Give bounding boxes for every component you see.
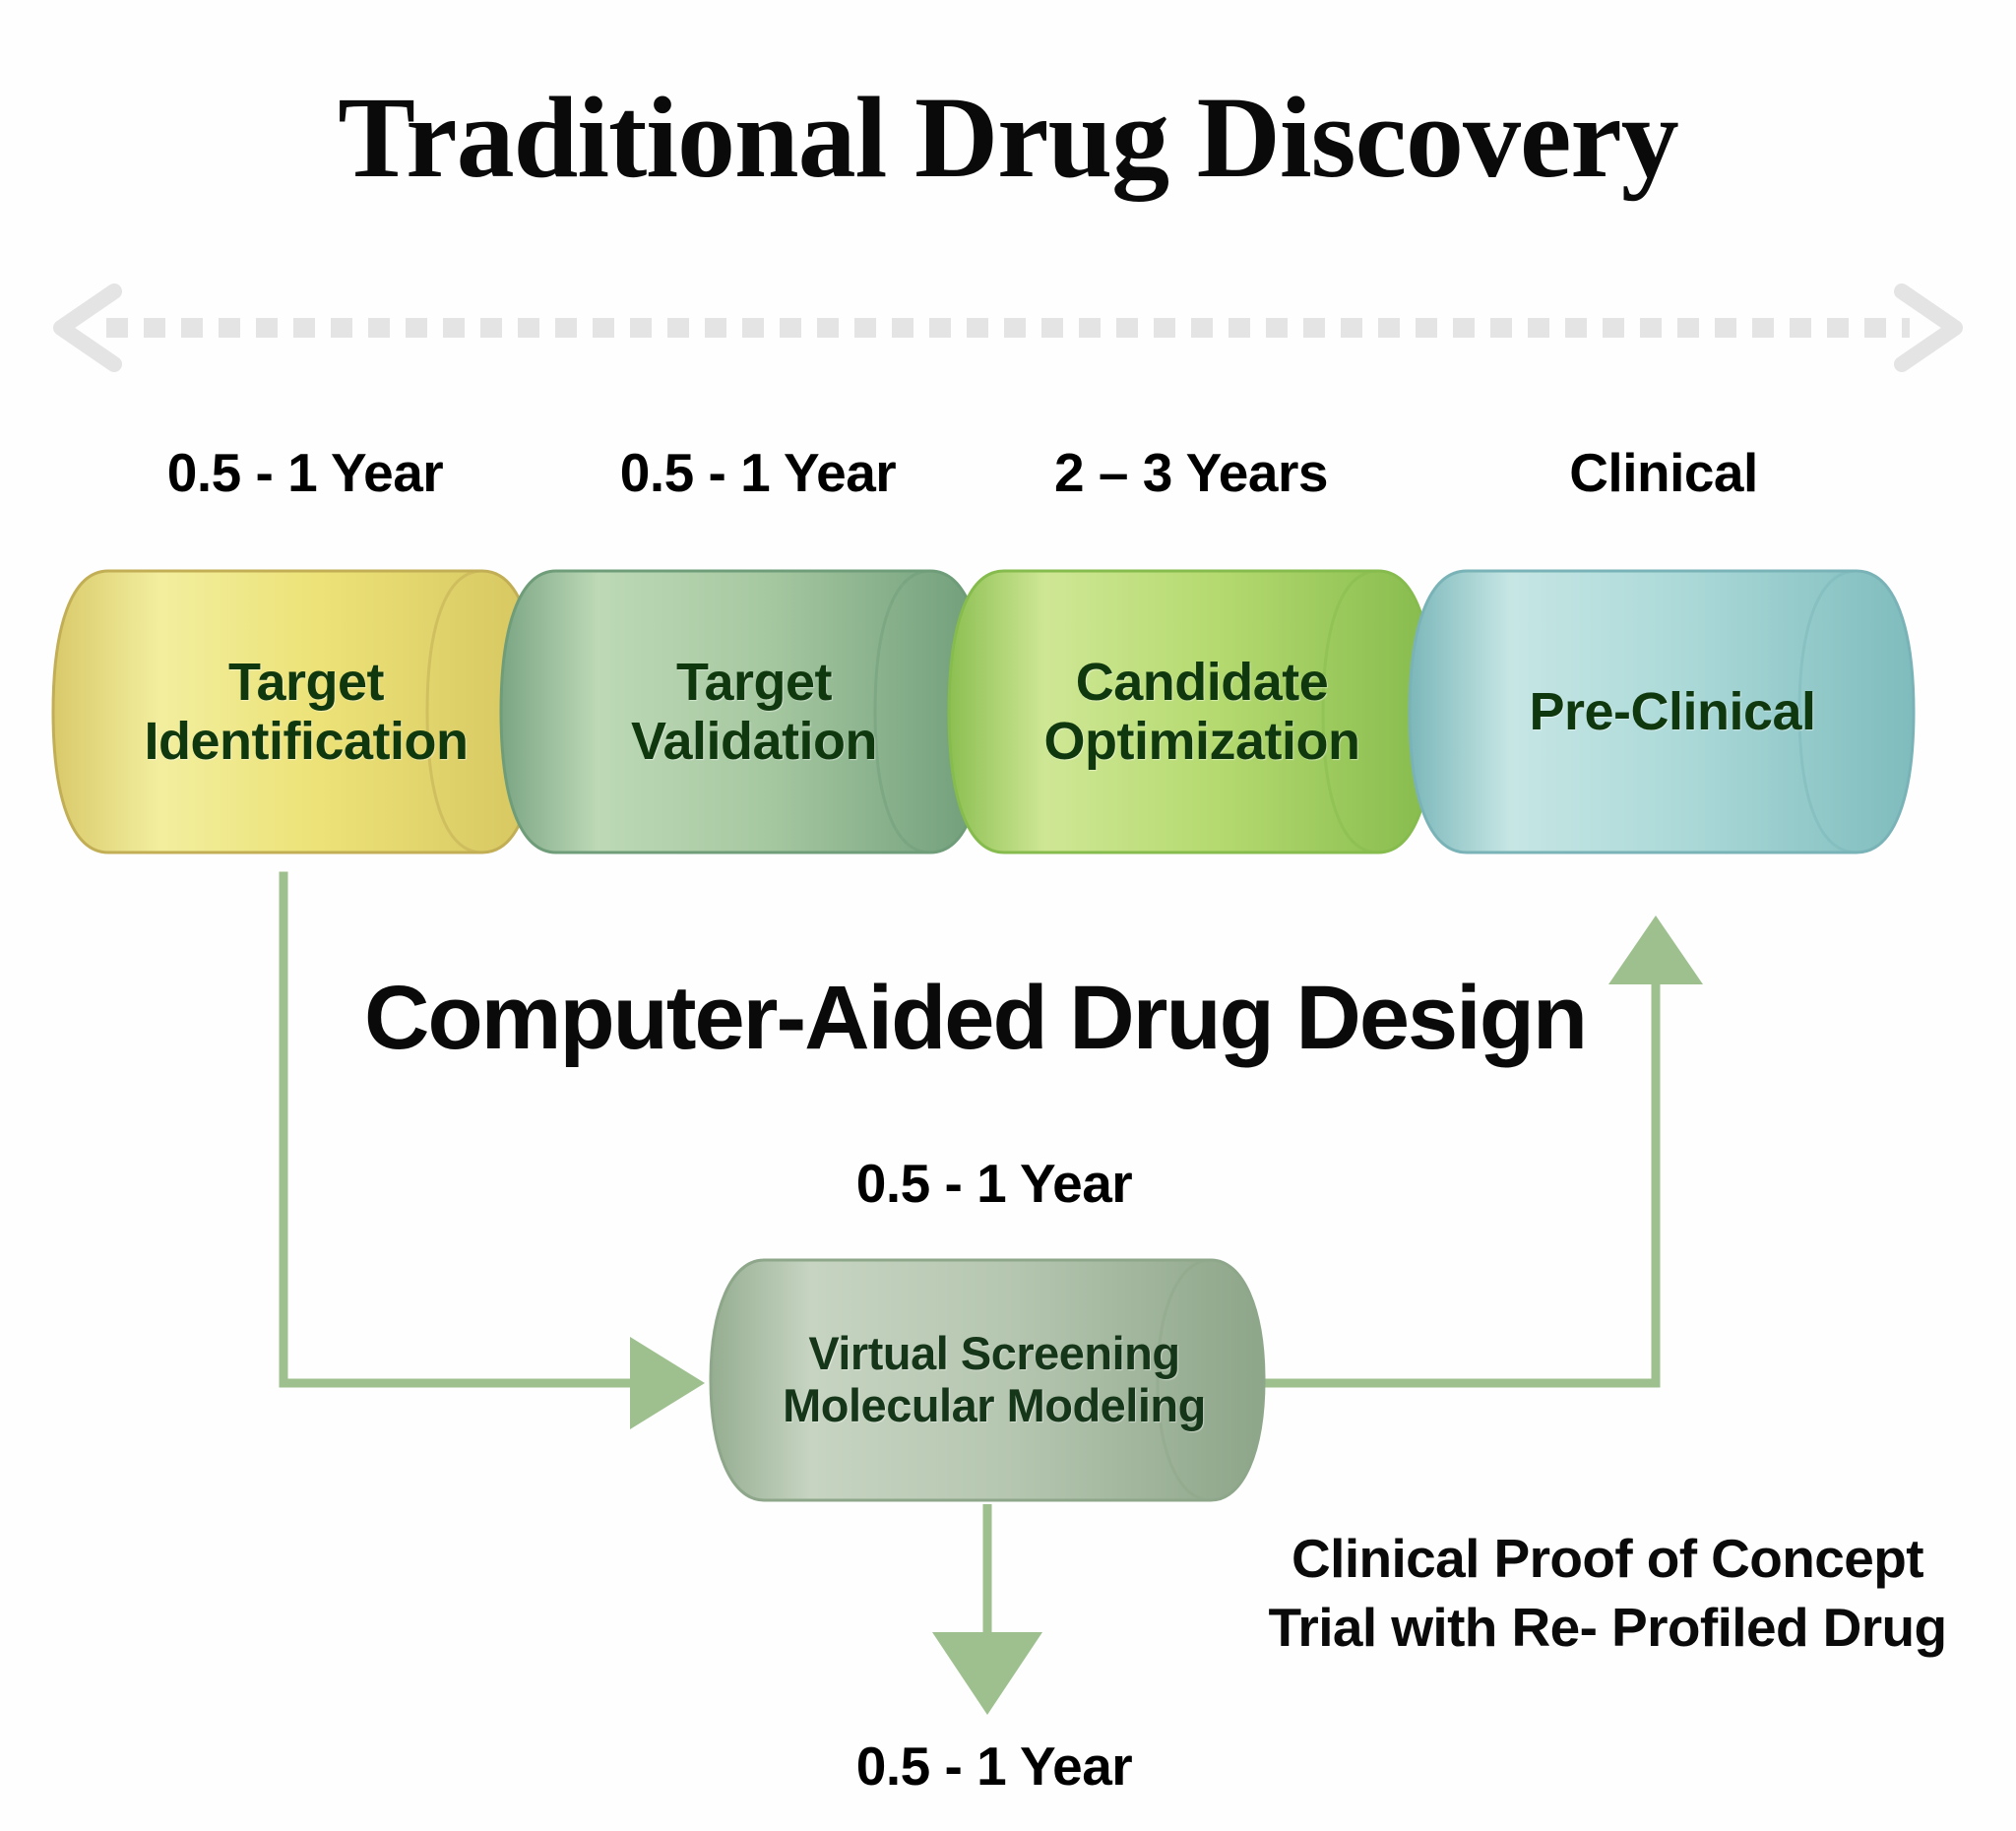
phase-cylinder-candidate-optimization[interactable]: Candidate Optimization <box>945 569 1437 854</box>
diagram-canvas: Traditional Drug Discovery 0.5 - 1 Year … <box>0 0 2016 1831</box>
phase-cylinder-target-identification[interactable]: Target Identification <box>49 569 541 854</box>
virtual-screening-line-1: Virtual Screening <box>783 1328 1206 1380</box>
clinical-proof-of-concept-note: Clinical Proof of Concept Trial with Re-… <box>1209 1524 2006 1663</box>
virtual-screening-label: Virtual Screening Molecular Modeling <box>769 1328 1206 1431</box>
virtual-screening-line-2: Molecular Modeling <box>783 1380 1206 1432</box>
phase-cylinder-label: Target Validation <box>609 653 877 772</box>
phase-label-line-1: Pre-Clinical <box>1529 682 1815 741</box>
phase-label-line-2: Optimization <box>1044 712 1360 771</box>
cpoc-note-line-2: Trial with Re- Profiled Drug <box>1209 1593 2006 1662</box>
phase-cylinder-label: Candidate Optimization <box>1023 653 1360 772</box>
connector-target-identification-to-virtual-screening <box>283 876 705 1429</box>
duration-label-target-identification: 0.5 - 1 Year <box>59 441 551 504</box>
duration-label-virtual-screening-bottom: 0.5 - 1 Year <box>758 1735 1230 1798</box>
duration-label-pre-clinical: Clinical <box>1417 441 1910 504</box>
phase-duration-row: 0.5 - 1 Year 0.5 - 1 Year 2 – 3 Years Cl… <box>0 441 2016 510</box>
phase-label-line-1: Target <box>631 653 877 712</box>
duration-label-virtual-screening-top: 0.5 - 1 Year <box>758 1152 1230 1215</box>
cpoc-note-line-1: Clinical Proof of Concept <box>1209 1524 2006 1593</box>
dashed-double-arrow-icon <box>47 284 1969 372</box>
phase-label-line-1: Target <box>145 653 469 712</box>
phase-label-line-2: Validation <box>631 712 877 771</box>
virtual-screening-cylinder[interactable]: Virtual Screening Molecular Modeling <box>707 1258 1268 1502</box>
phase-cylinder-pre-clinical[interactable]: Pre-Clinical <box>1406 569 1918 854</box>
cadd-section-title: Computer-Aided Drug Design <box>364 967 1586 1070</box>
page-title: Traditional Drug Discovery <box>0 77 2016 199</box>
duration-label-candidate-optimization: 2 – 3 Years <box>945 441 1437 504</box>
phase-cylinder-target-validation[interactable]: Target Validation <box>497 569 989 854</box>
connector-virtual-screening-down-arrow <box>932 1504 1042 1715</box>
duration-label-target-validation: 0.5 - 1 Year <box>512 441 1004 504</box>
phase-cylinder-label: Target Identification <box>123 653 469 772</box>
phase-cylinder-row: Target Identification Target <box>0 569 2016 864</box>
phase-label-line-1: Candidate <box>1044 653 1360 712</box>
phase-label-line-2: Identification <box>145 712 469 771</box>
phase-cylinder-label: Pre-Clinical <box>1507 682 1815 741</box>
